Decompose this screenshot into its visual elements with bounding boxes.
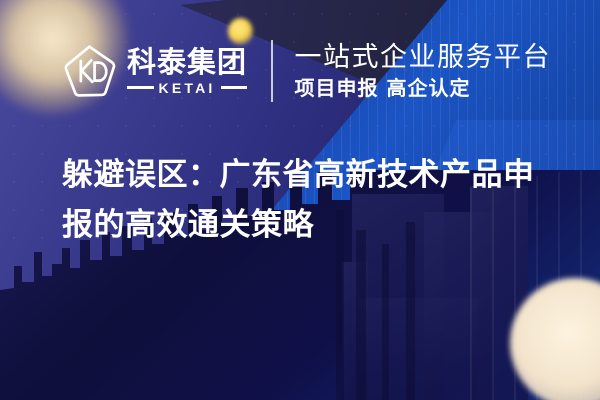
banner-header: 科泰集团 KETAI 一站式企业服务平台 项目申报 高企认定 [62, 40, 551, 102]
page-title-line-1: 躲避误区：广东省高新技术产品申 [62, 150, 562, 200]
page-title-line-2: 报的高效通关策略 [62, 200, 562, 250]
vertical-divider [271, 40, 273, 102]
wordmark-rule-right [221, 86, 248, 89]
brand-wordmark: 科泰集团 KETAI [127, 47, 247, 94]
wordmark-rule-left [127, 86, 154, 89]
brand-tagline: 一站式企业服务平台 项目申报 高企认定 [295, 43, 552, 100]
brand-name-en: KETAI [159, 81, 216, 95]
brand-name-cn: 科泰集团 [127, 47, 247, 77]
tagline-main: 一站式企业服务平台 [295, 43, 552, 73]
promo-banner: 科泰集团 KETAI 一站式企业服务平台 项目申报 高企认定 躲避误区：广东省高… [0, 0, 600, 400]
ketai-kt-monogram-icon [62, 43, 118, 99]
brand-name-en-row: KETAI [127, 81, 247, 95]
tagline-sub: 项目申报 高企认定 [295, 77, 552, 99]
brand-logo[interactable]: 科泰集团 KETAI [62, 43, 247, 99]
page-title: 躲避误区：广东省高新技术产品申 报的高效通关策略 [62, 150, 562, 250]
